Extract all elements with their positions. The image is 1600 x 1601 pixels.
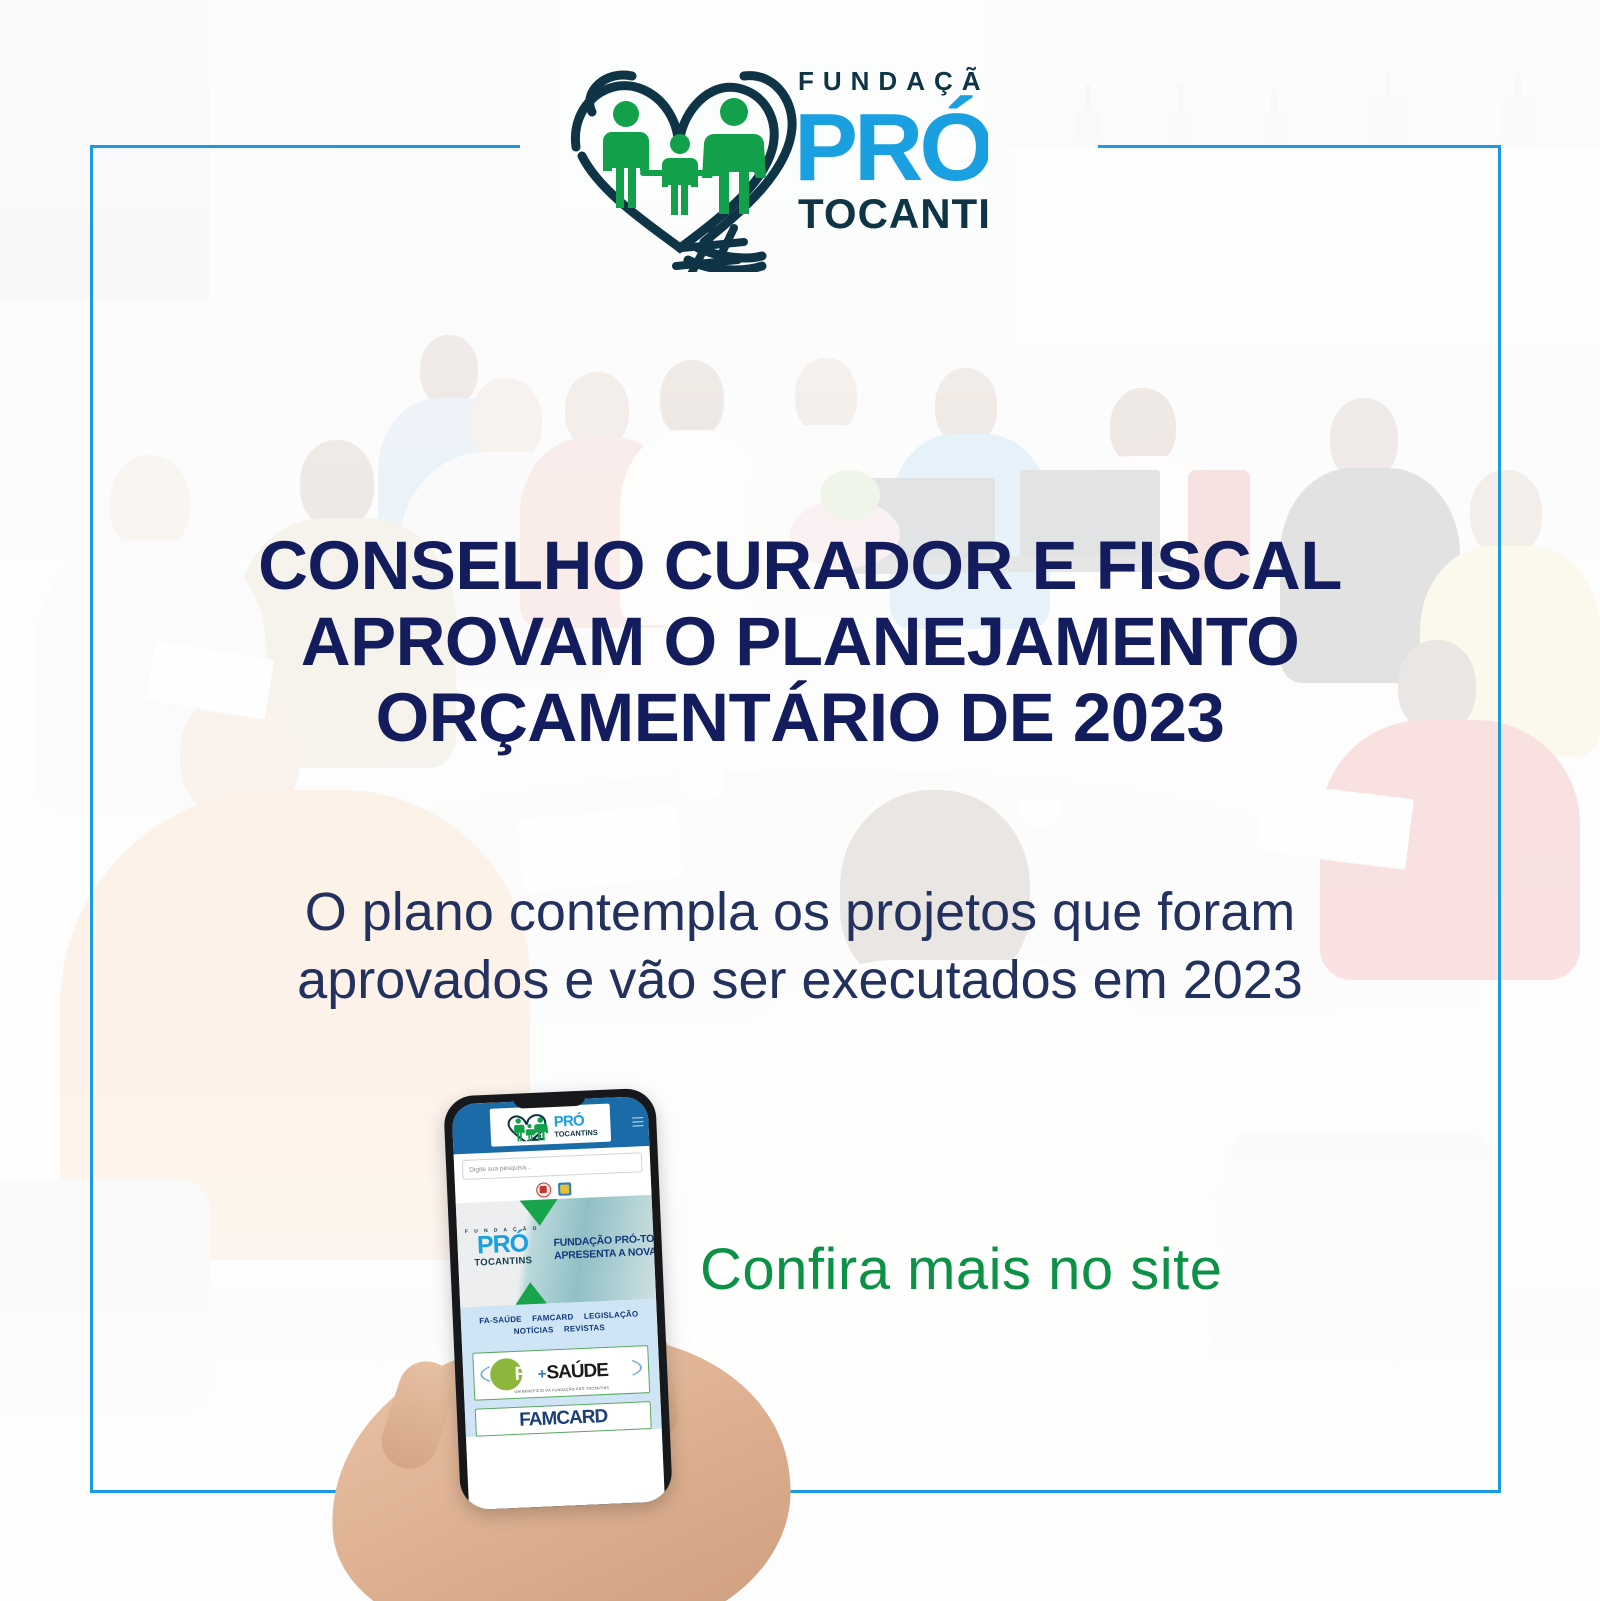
menu-item-legislacao[interactable]: LEGISLAÇÃO (584, 1310, 639, 1321)
svg-text:TOCANTINS: TOCANTINS (798, 190, 988, 237)
banner-logo-pro: PRÓ (463, 1232, 542, 1258)
headline-line-1: CONSELHO CURADOR E FISCAL (0, 528, 1600, 604)
site-logo-tocantins: TOCANTINS (554, 1128, 598, 1139)
bombeiros-badge-icon[interactable] (535, 1182, 551, 1198)
governo-badge-icon[interactable] (557, 1182, 571, 1196)
menu-item-noticias[interactable]: NOTÍCIAS (514, 1325, 554, 1336)
frame-top-border-left (90, 145, 520, 148)
banner-text: FUNDAÇÃO PRÓ-TOCA APRESENTA A NOVA (553, 1231, 656, 1263)
menu-item-fa-saude[interactable]: FA-SAÚDE (479, 1315, 522, 1326)
headline: CONSELHO CURADOR E FISCAL APROVAM O PLAN… (0, 528, 1600, 756)
fa-saude-fa: FA (514, 1363, 537, 1386)
banner-logo: F U N D A Ç Ã O PRÓ TOCANTINS (463, 1226, 543, 1269)
subheadline: O plano contempla os projetos que foram … (0, 878, 1600, 1014)
phone-mockup: PRÓ TOCANTINS Digite sua pesquisa... (443, 1088, 673, 1511)
cta-text: Confira mais no site (700, 1238, 1320, 1302)
site-logo-pro: PRÓ (553, 1111, 585, 1130)
svg-text:PRÓ: PRÓ (794, 94, 988, 201)
social-media-post: FUNDAÇÃO PRÓ TOCANTINS CONSELHO CURADOR … (0, 0, 1600, 1601)
svg-text:FUNDAÇÃO: FUNDAÇÃO (798, 66, 988, 96)
banner-logo-tocantins: TOCANTINS (464, 1255, 542, 1269)
phone-screen[interactable]: PRÓ TOCANTINS Digite sua pesquisa... (451, 1096, 665, 1510)
subheadline-line-1: O plano contempla os projetos que foram (0, 878, 1600, 946)
banner-wedge-bottom-icon (510, 1281, 551, 1307)
fa-saude-plus-icon: + (537, 1365, 545, 1382)
hero-banner[interactable]: F U N D A Ç Ã O PRÓ TOCANTINS FUNDAÇÃO P… (456, 1195, 656, 1307)
frame-left-border (90, 145, 93, 1493)
fa-saude-card[interactable]: FA + SAÚDE UM BENEFÍCIO DA FUNDAÇÃO PRÓ … (462, 1339, 661, 1409)
frame-right-border (1498, 145, 1501, 1493)
headline-line-3: ORÇAMENTÁRIO DE 2023 (0, 680, 1600, 756)
site-logo-mark: PRÓ TOCANTINS (502, 1108, 598, 1142)
fa-saude-saude: SAÚDE (546, 1360, 608, 1385)
menu-item-revistas[interactable]: REVISTAS (564, 1323, 605, 1334)
banner-wedge-top-icon (516, 1195, 561, 1227)
site-logo[interactable]: PRÓ TOCANTINS (490, 1104, 612, 1147)
subheadline-line-2: aprovados e vão ser executados em 2023 (0, 946, 1600, 1014)
search-placeholder: Digite sua pesquisa... (469, 1164, 531, 1174)
headline-line-2: APROVAM O PLANEJAMENTO (0, 604, 1600, 680)
frame-top-border-right (1098, 145, 1501, 148)
fa-saude-wordmark: FA + SAÚDE (514, 1360, 608, 1386)
hamburger-menu-icon[interactable] (632, 1114, 644, 1129)
logo-fundacao-pro-tocantins: FUNDAÇÃO PRÓ TOCANTINS (548, 52, 988, 272)
menu-item-famcard[interactable]: FAMCARD (532, 1312, 574, 1323)
